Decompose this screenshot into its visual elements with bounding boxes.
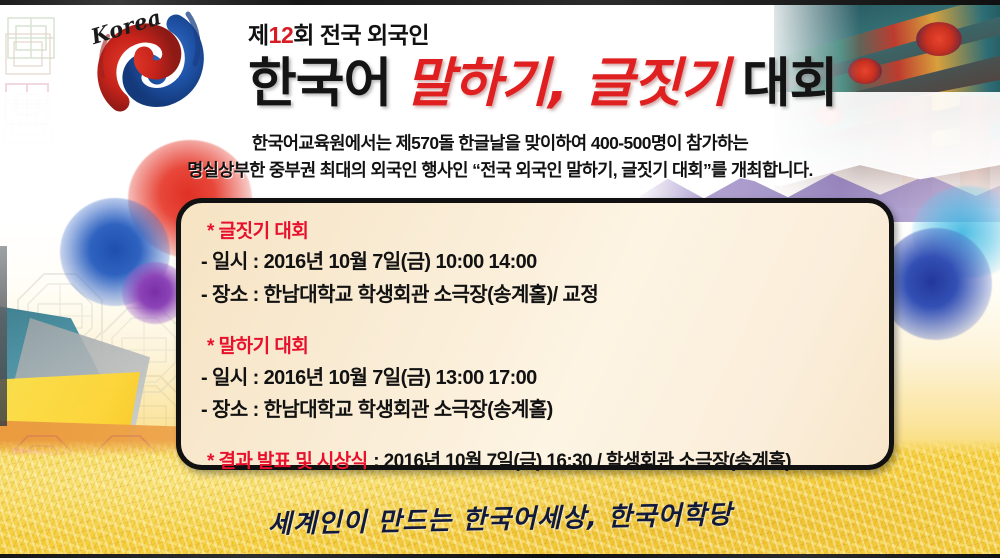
page-title: 한국어 말하기, 글짓기 대회 — [248, 56, 888, 112]
section-venue: - 장소 : 한남대학교 학생회관 소극장(송계홀)/ 교정 — [201, 279, 889, 311]
section-venue: - 장소 : 한남대학교 학생회관 소극장(송계홀) — [201, 394, 889, 426]
award-detail: : 2016년 10월 7일(금) 16:30 / 학생회관 소극장(송계홀) — [369, 451, 791, 472]
headline-block: 제12회 전국 외국인 한국어 말하기, 글짓기 대회 — [248, 16, 888, 112]
section-datetime: - 일시 : 2016년 10월 7일(금) 10:00 14:00 — [201, 246, 889, 278]
lead-line-1: 한국어교육원에서는 제570돌 한글날을 맞이하여 400-500명이 참가하는 — [0, 130, 1000, 157]
kicker-suffix: 회 전국 외국인 — [293, 22, 429, 48]
kicker-prefix: 제 — [248, 22, 269, 48]
event-details-box: * 글짓기 대회 - 일시 : 2016년 10월 7일(금) 10:00 14… — [176, 198, 894, 470]
kicker-line: 제12회 전국 외국인 — [248, 16, 888, 50]
section-spacer — [207, 313, 889, 332]
bottom-edge-bar — [0, 554, 1000, 558]
kicker-edition-number: 12 — [269, 22, 294, 48]
left-edge-bar — [0, 246, 7, 426]
section-datetime: - 일시 : 2016년 10월 7일(금) 13:00 17:00 — [201, 362, 889, 394]
section-heading: * 글짓기 대회 — [207, 217, 889, 246]
lead-line-2: 명실상부한 중부권 최대의 외국인 행사인 “전국 외국인 말하기, 글짓기 대… — [0, 157, 1000, 184]
award-label: * 결과 발표 및 시상식 — [207, 451, 368, 472]
award-ceremony-line: * 결과 발표 및 시상식 : 2016년 10월 7일(금) 16:30 / … — [207, 446, 889, 473]
title-part1: 한국어 — [248, 54, 391, 113]
title-brush-text: 말하기, 글짓기 — [405, 53, 728, 114]
section-writing-contest: * 글짓기 대회 - 일시 : 2016년 10월 7일(금) 10:00 14… — [207, 217, 889, 311]
lead-paragraph: 한국어교육원에서는 제570돌 한글날을 맞이하여 400-500명이 참가하는… — [0, 130, 1000, 183]
poster-root: Korea 제12회 전국 외국인 한국어 말하기, 글짓기 대회 한국어교육원… — [0, 0, 1000, 558]
section-heading: * 말하기 대회 — [207, 332, 889, 361]
taegeuk-brush-logo-icon: Korea — [84, 2, 210, 124]
section-speaking-contest: * 말하기 대회 - 일시 : 2016년 10월 7일(금) 13:00 17… — [207, 332, 889, 426]
title-part2: 대회 — [742, 54, 838, 113]
